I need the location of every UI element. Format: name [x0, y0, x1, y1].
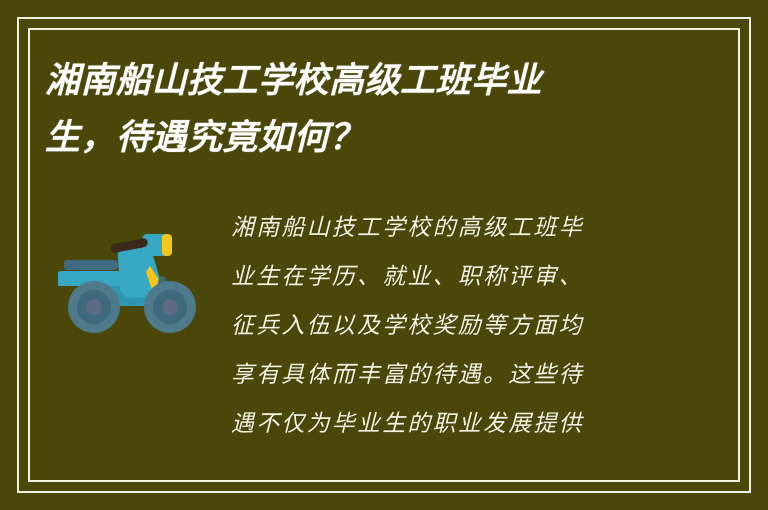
content-row: 湘南船山技工学校的高级工班毕 业生在学历、就业、职称评审、 征兵入伍以及学校奖励…: [0, 196, 768, 476]
motor-scooter-icon: [58, 214, 200, 340]
body-line: 湘南船山技工学校的高级工班毕: [231, 204, 651, 253]
page-title: 湘南船山技工学校高级工班毕业 生，待遇究竟如何？: [45, 52, 645, 166]
body-line: 享有具体而丰富的待遇。这些待: [231, 351, 651, 400]
article-card: 湘南船山技工学校高级工班毕业 生，待遇究竟如何？: [0, 0, 768, 510]
body-line: 业生在学历、就业、职称评审、: [231, 253, 651, 302]
body-line: 遇不仅为毕业生的职业发展提供: [231, 400, 651, 449]
title-line-2: 生，待遇究竟如何？: [45, 109, 645, 166]
body-line: 征兵入伍以及学校奖励等方面均: [231, 302, 651, 351]
title-line-1: 湘南船山技工学校高级工班毕业: [45, 52, 645, 109]
article-body: 湘南船山技工学校的高级工班毕 业生在学历、就业、职称评审、 征兵入伍以及学校奖励…: [231, 204, 651, 449]
